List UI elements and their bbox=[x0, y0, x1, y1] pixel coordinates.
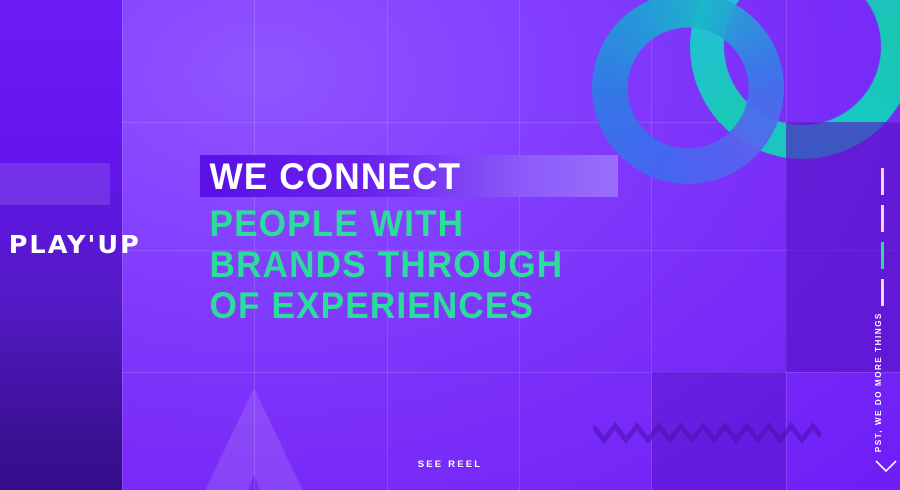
scroll-hint-label: PST, WE DO MORE THINGS bbox=[874, 312, 883, 452]
headline-highlight-band: WE CONNECT bbox=[200, 155, 618, 197]
zigzag-pattern-icon bbox=[593, 420, 821, 446]
headline-line-2: BRANDS THROUGH bbox=[200, 244, 599, 285]
headline-highlight-text: WE CONNECT bbox=[200, 158, 461, 195]
decor-block-left bbox=[0, 163, 110, 205]
headline-line-3: OF EXPERIENCES bbox=[200, 285, 599, 326]
ring-blue-icon bbox=[592, 0, 784, 184]
progress-tick[interactable] bbox=[881, 205, 884, 232]
see-reel-button[interactable]: SEE REEL bbox=[0, 454, 900, 472]
see-reel-label: SEE REEL bbox=[418, 459, 483, 470]
progress-tick[interactable] bbox=[881, 279, 884, 306]
scroll-hint: PST, WE DO MORE THINGS bbox=[868, 340, 888, 452]
chevron-down-icon[interactable] bbox=[874, 458, 898, 474]
progress-tick[interactable] bbox=[881, 168, 884, 195]
brand-logo[interactable]: PLAY'UP bbox=[9, 232, 141, 257]
progress-tick-active[interactable] bbox=[881, 242, 884, 269]
headline-line-1: PEOPLE WITH bbox=[200, 203, 599, 244]
hero-headline: WE CONNECT PEOPLE WITH BRANDS THROUGH OF… bbox=[200, 155, 620, 326]
section-progress-indicator[interactable] bbox=[881, 168, 884, 306]
hero-stage: PLAY'UP WE CONNECT PEOPLE WITH BRANDS TH… bbox=[0, 0, 900, 490]
chevron-shape-icon bbox=[168, 388, 340, 490]
